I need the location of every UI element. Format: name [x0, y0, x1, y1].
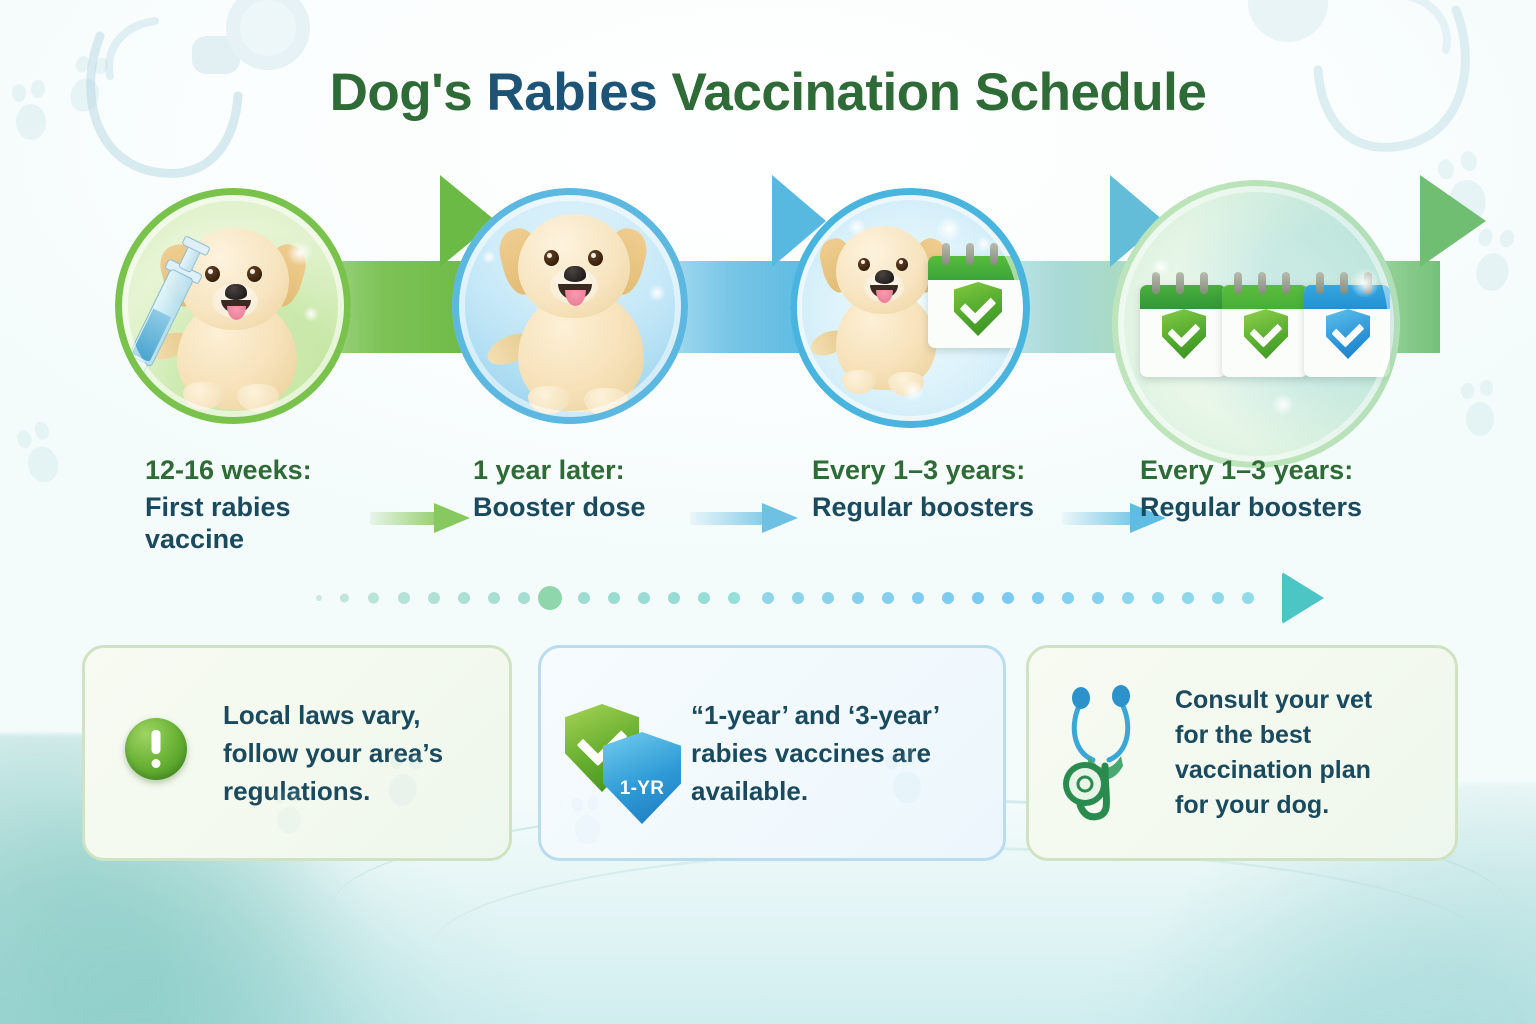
circle-4-ring: [1112, 180, 1400, 468]
card-3-line-3: vaccination plan: [1175, 753, 1372, 788]
title-part-vaccination-schedule: Vaccination Schedule: [671, 63, 1206, 122]
label-arrow-2: [690, 503, 800, 533]
circle-2-ring: [452, 188, 688, 424]
card-2-icon-wrap: 1-YR: [559, 688, 691, 818]
step-label-1: 12-16 weeks: First rabies vaccine: [145, 455, 375, 556]
info-card-vaccine-types[interactable]: 1-YR “1-year’ and ‘3-year’ rabies vaccin…: [538, 645, 1006, 861]
timeline-circle-4: [1112, 180, 1400, 468]
circle-1-ring: [115, 188, 351, 424]
timeline-circle-1: [115, 188, 351, 424]
card-3-line-4: for your dog.: [1175, 788, 1372, 823]
card-1-icon-wrap: [103, 688, 223, 818]
card-1-line-2: follow your area’s: [223, 734, 443, 772]
card-2-line-2: rabies vaccines are: [691, 734, 940, 772]
step-2-what: Booster dose: [473, 492, 703, 524]
card-3-text: Consult your vet for the best vaccinatio…: [1175, 683, 1388, 823]
card-2-text: “1-year’ and ‘3-year’ rabies vaccines ar…: [691, 696, 956, 811]
info-card-consult-vet[interactable]: Consult your vet for the best vaccinatio…: [1026, 645, 1458, 861]
card-3-line-2: for the best: [1175, 718, 1372, 753]
progress-current-marker[interactable]: [538, 586, 562, 610]
blue-shield-1yr-icon: 1-YR: [603, 732, 681, 824]
step-label-3: Every 1–3 years: Regular boosters: [812, 455, 1072, 524]
step-labels-row: 12-16 weeks: First rabies vaccine 1 year…: [0, 455, 1536, 585]
info-cards-row: Local laws vary, follow your area’s regu…: [0, 645, 1536, 865]
card-1-line-3: regulations.: [223, 772, 443, 810]
step-label-4: Every 1–3 years: Regular boosters: [1140, 455, 1410, 524]
title-part-dogs: Dog's: [330, 63, 487, 122]
page-title: Dog's Rabies Vaccination Schedule: [0, 62, 1536, 123]
label-arrow-1: [370, 503, 470, 533]
step-3-when: Every 1–3 years:: [812, 455, 1072, 487]
step-4-when: Every 1–3 years:: [1140, 455, 1410, 487]
connector-arrow-4: [1420, 175, 1486, 267]
step-2-when: 1 year later:: [473, 455, 703, 487]
timeline-circle-3: [790, 188, 1030, 428]
step-1-when: 12-16 weeks:: [145, 455, 375, 487]
timeline-circle-2: [452, 188, 688, 424]
shield-badge-label: 1-YR: [603, 778, 681, 800]
info-card-local-laws[interactable]: Local laws vary, follow your area’s regu…: [82, 645, 512, 861]
step-label-2: 1 year later: Booster dose: [473, 455, 703, 524]
card-3-icon-wrap: [1047, 668, 1175, 838]
stethoscope-icon: [1059, 680, 1171, 830]
progress-dotted-line: [0, 578, 1536, 618]
step-3-what: Regular boosters: [812, 492, 1072, 524]
step-4-what: Regular boosters: [1140, 492, 1410, 524]
timeline-row: [0, 175, 1536, 440]
step-1-what-line2: vaccine: [145, 524, 375, 556]
exclamation-circle-icon: [125, 718, 187, 780]
progress-arrowhead-icon: [1282, 572, 1324, 624]
infographic-canvas: Dog's Rabies Vaccination Schedule: [0, 0, 1536, 1024]
card-3-line-1: Consult your vet: [1175, 683, 1372, 718]
circle-3-ring: [790, 188, 1030, 428]
step-1-what-line1: First rabies: [145, 492, 375, 524]
card-1-line-1: Local laws vary,: [223, 696, 443, 734]
card-1-text: Local laws vary, follow your area’s regu…: [223, 696, 459, 811]
card-2-line-1: “1-year’ and ‘3-year’: [691, 696, 940, 734]
title-part-rabies: Rabies: [486, 63, 671, 122]
card-2-line-3: available.: [691, 772, 940, 810]
